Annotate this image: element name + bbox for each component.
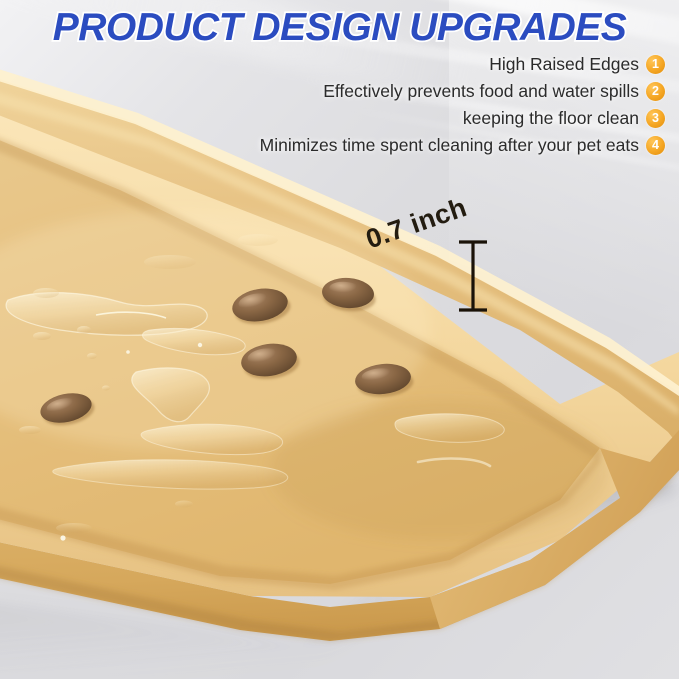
feature-label: Minimizes time spent cleaning after your… [260,135,639,156]
feature-item: High Raised Edges 1 [489,52,665,77]
feature-item: keeping the floor clean 3 [463,106,665,131]
feature-number-badge: 2 [646,82,665,101]
page-title: PRODUCT DESIGN UPGRADES [0,6,679,50]
feature-item: Effectively prevents food and water spil… [323,79,665,104]
product-image-canvas: PRODUCT DESIGN UPGRADES High Raised Edge… [0,0,679,679]
feature-number-badge: 4 [646,136,665,155]
feature-label: High Raised Edges [489,54,639,75]
feature-label: Effectively prevents food and water spil… [323,81,639,102]
feature-item: Minimizes time spent cleaning after your… [260,133,665,158]
feature-list: High Raised Edges 1 Effectively prevents… [260,52,665,158]
feature-number-badge: 1 [646,55,665,74]
feature-label: keeping the floor clean [463,108,639,129]
dimension-line-icon [455,236,491,316]
feature-number-badge: 3 [646,109,665,128]
